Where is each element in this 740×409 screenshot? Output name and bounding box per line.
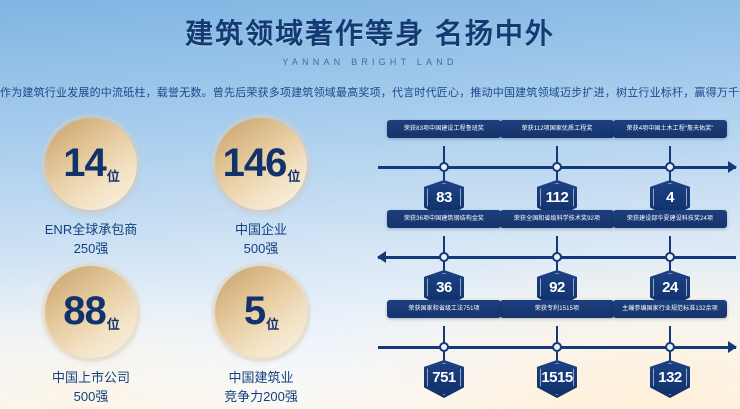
timeline-item-1-2[interactable]: 荣获建设部华夏建设科技奖24项 24 — [612, 210, 728, 233]
award-card-2-2: 主编参编国家行业规范标准132余项 — [613, 300, 727, 318]
stat-label-0: ENR全球承包商 250强 — [45, 221, 137, 259]
award-card-1-2: 荣获建设部华夏建设科技奖24项 — [613, 210, 727, 228]
award-card-0-0: 荣获83项中国建设工程鲁班奖 — [387, 120, 501, 138]
stat-label-2: 中国上市公司 500强 — [52, 369, 130, 407]
timeline-item-1-1[interactable]: 荣获全国和省级科学技术奖92项 92 — [499, 210, 615, 233]
timeline-item-0-1[interactable]: 荣获112项国家优质工程奖 112 — [499, 120, 615, 143]
award-badge-2-0: 751 — [424, 360, 464, 398]
award-badge-value-0-1: 112 — [546, 190, 569, 205]
timeline-row-0: 荣获83项中国建设工程鲁班奖 83 荣获112项国家优质工程奖 112 荣获4项… — [378, 120, 736, 210]
timeline-item-2-1[interactable]: 荣获专利1515项 1515 — [499, 300, 615, 323]
stat-card-0: 14 位 ENR全球承包商 250强 — [6, 118, 176, 266]
stat-label-2-line1: 中国上市公司 — [52, 369, 130, 388]
stat-label-1-line2: 500强 — [235, 240, 287, 259]
timeline-item-1-0[interactable]: 荣获36项中国建筑钢结构金奖 36 — [386, 210, 502, 233]
award-card-0-2: 荣获4项中国土木工程“詹天佑奖” — [613, 120, 727, 138]
award-badge-value-1-1: 92 — [549, 280, 565, 295]
timeline-item-0-2[interactable]: 荣获4项中国土木工程“詹天佑奖” 4 — [612, 120, 728, 143]
awards-timeline: 荣获83项中国建设工程鲁班奖 83 荣获112项国家优质工程奖 112 荣获4项… — [378, 120, 736, 400]
award-card-1-1: 荣获全国和省级科学技术奖92项 — [500, 210, 614, 228]
stat-number-1: 146 — [223, 143, 287, 183]
stats-grid: 14 位 ENR全球承包商 250强 146 位 中国企业 500强 88 位 — [6, 118, 346, 409]
award-card-0-1: 荣获112项国家优质工程奖 — [500, 120, 614, 138]
award-badge-2-2: 132 — [650, 360, 690, 398]
arrow-left-icon — [377, 251, 386, 263]
stat-unit-0: 位 — [107, 166, 120, 185]
timeline-item-2-2[interactable]: 主编参编国家行业规范标准132余项 132 — [612, 300, 728, 323]
award-badge-value-1-2: 24 — [662, 280, 678, 295]
timeline-item-2-0[interactable]: 荣获国家和省级工法751项 751 — [386, 300, 502, 323]
stat-label-3: 中国建筑业 竞争力200强 — [224, 369, 298, 407]
stat-card-1: 146 位 中国企业 500强 — [176, 118, 346, 266]
stat-label-3-line1: 中国建筑业 — [224, 369, 298, 388]
stat-card-2: 88 位 中国上市公司 500强 — [6, 266, 176, 409]
award-badge-value-2-0: 751 — [432, 370, 456, 385]
award-badge-value-0-2: 4 — [666, 190, 674, 205]
stat-card-3: 5 位 中国建筑业 竞争力200强 — [176, 266, 346, 409]
award-card-2-1: 荣获专利1515项 — [500, 300, 614, 318]
award-badge-value-2-1: 1515 — [541, 370, 572, 385]
arrow-right-icon — [728, 341, 737, 353]
stat-label-0-line1: ENR全球承包商 — [45, 221, 137, 240]
promo-banner: 建筑领域著作等身 名扬中外 YANNAN BRIGHT LAND 作为建筑行业发… — [0, 0, 740, 409]
stat-number-2: 88 — [63, 291, 106, 331]
award-badge-2-1: 1515 — [537, 360, 577, 398]
intro-paragraph: 作为建筑行业发展的中流砥柱，载誉无数。曾先后荣获多项建筑领域最高奖项，代言时代匠… — [0, 84, 740, 100]
arrow-right-icon — [728, 161, 737, 173]
brand-subtitle: YANNAN BRIGHT LAND — [0, 57, 740, 67]
stat-circle-3: 5 位 — [215, 266, 307, 358]
stat-circle-2: 88 位 — [45, 266, 137, 358]
timeline-item-0-0[interactable]: 荣获83项中国建设工程鲁班奖 83 — [386, 120, 502, 143]
stat-number-0: 14 — [63, 143, 106, 183]
stat-label-3-line2: 竞争力200强 — [224, 388, 298, 407]
stat-label-1: 中国企业 500强 — [235, 221, 287, 259]
award-badge-value-0-0: 83 — [436, 190, 452, 205]
timeline-row-2: 荣获国家和省级工法751项 751 荣获专利1515项 1515 主编参编国家行… — [378, 300, 736, 390]
award-badge-value-1-0: 36 — [436, 280, 452, 295]
stat-unit-3: 位 — [266, 314, 279, 333]
award-card-2-0: 荣获国家和省级工法751项 — [387, 300, 501, 318]
stat-unit-2: 位 — [107, 314, 120, 333]
award-card-1-0: 荣获36项中国建筑钢结构金奖 — [387, 210, 501, 228]
header: 建筑领域著作等身 名扬中外 YANNAN BRIGHT LAND — [0, 0, 740, 67]
stat-number-3: 5 — [244, 291, 265, 331]
stat-circle-1: 146 位 — [215, 118, 307, 210]
stat-label-0-line2: 250强 — [45, 240, 137, 259]
stat-circle-0: 14 位 — [45, 118, 137, 210]
award-badge-value-2-2: 132 — [658, 370, 682, 385]
stat-label-2-line2: 500强 — [52, 388, 130, 407]
page-title: 建筑领域著作等身 名扬中外 — [0, 0, 740, 51]
stat-label-1-line1: 中国企业 — [235, 221, 287, 240]
stat-unit-1: 位 — [287, 166, 300, 185]
timeline-row-1: 荣获36项中国建筑钢结构金奖 36 荣获全国和省级科学技术奖92项 92 荣获建… — [378, 210, 736, 300]
